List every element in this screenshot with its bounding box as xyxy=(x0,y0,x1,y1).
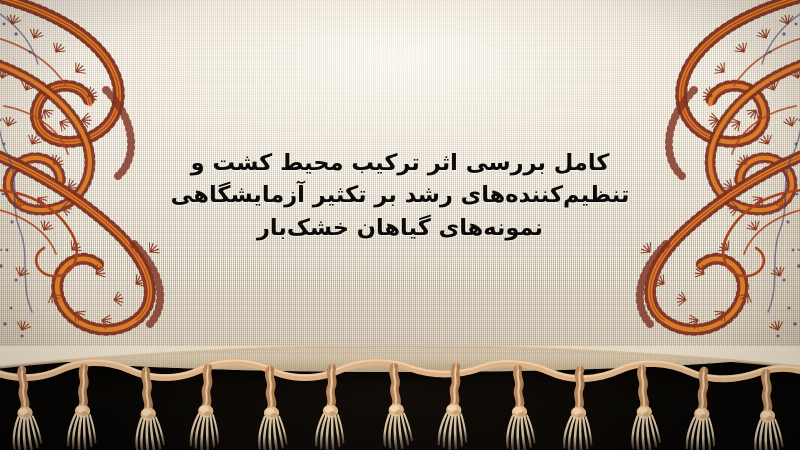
title-text-block: کامل بررسی اثر ترکیب محیط کشت و تنظیم‌کن… xyxy=(0,150,800,247)
tassel-fringe xyxy=(0,346,800,450)
title-line-1: کامل بررسی اثر ترکیب محیط کشت و xyxy=(0,150,800,177)
title-card-canvas: کامل بررسی اثر ترکیب محیط کشت و تنظیم‌کن… xyxy=(0,0,800,450)
title-line-3: نمونه‌های گیاهان خشک‌بار xyxy=(0,215,800,242)
title-line-2: تنظیم‌کننده‌های رشد بر تکثیر آزمایشگاهی xyxy=(0,182,800,209)
